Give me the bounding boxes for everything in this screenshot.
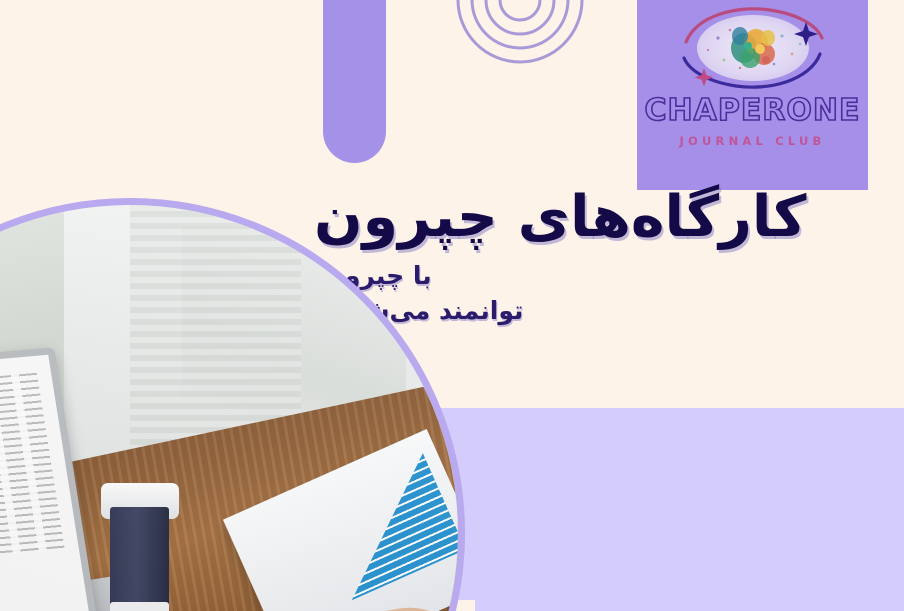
floral-oval-emblem-icon — [678, 2, 828, 94]
poster-canvas: ۱ — [0, 0, 904, 611]
logo-subtitle: JOURNAL CLUB — [680, 134, 826, 148]
logo-wordmark: CHAPERONE — [644, 96, 860, 126]
decorative-pill-shape — [323, 0, 386, 163]
workspace-photo — [0, 198, 465, 611]
logo-panel: CHAPERONE JOURNAL CLUB — [637, 0, 868, 190]
photo-coffee-cup — [110, 507, 169, 611]
concentric-arcs-icon — [448, 0, 598, 68]
